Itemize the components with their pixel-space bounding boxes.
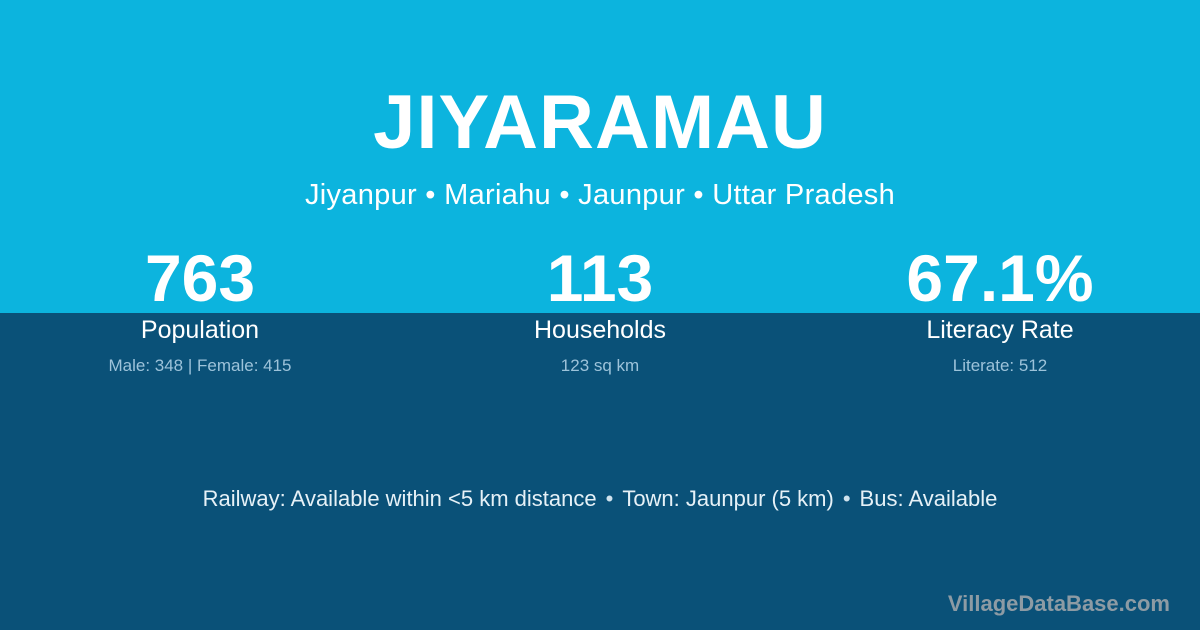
stat-sub-literacy: Literate: 512 xyxy=(800,355,1200,377)
breadcrumb: Jiyanpur • Mariahu • Jaunpur • Uttar Pra… xyxy=(0,181,1200,210)
infra-railway: Railway: Available within <5 km distance xyxy=(203,486,597,511)
title-block: JIYARAMAU Jiyanpur • Mariahu • Jaunpur •… xyxy=(0,0,1200,210)
stat-value-population: 763 xyxy=(0,243,400,313)
stat-label-literacy: Literacy Rate xyxy=(800,315,1200,345)
infra-separator-1: • xyxy=(597,486,623,511)
infra-bus: Bus: Available xyxy=(860,486,998,511)
stat-label-population: Population xyxy=(0,315,400,345)
infra-town: Town: Jaunpur (5 km) xyxy=(622,486,834,511)
infrastructure-line: Railway: Available within <5 km distance… xyxy=(0,484,1200,514)
stat-value-literacy: 67.1% xyxy=(800,243,1200,313)
infra-separator-2: • xyxy=(834,486,860,511)
stat-sub-population: Male: 348 | Female: 415 xyxy=(0,355,400,377)
stat-sub-households: 123 sq km xyxy=(400,355,800,377)
page-title: JIYARAMAU xyxy=(0,0,1200,161)
stat-block-population: 763 Population Male: 348 | Female: 415 xyxy=(0,243,400,377)
stats-row: 763 Population Male: 348 | Female: 415 1… xyxy=(0,243,1200,377)
village-info-card: JIYARAMAU Jiyanpur • Mariahu • Jaunpur •… xyxy=(0,0,1200,630)
stat-value-households: 113 xyxy=(400,243,800,313)
site-watermark: VillageDataBase.com xyxy=(948,590,1170,618)
stat-block-literacy: 67.1% Literacy Rate Literate: 512 xyxy=(800,243,1200,377)
stat-block-households: 113 Households 123 sq km xyxy=(400,243,800,377)
stat-label-households: Households xyxy=(400,315,800,345)
